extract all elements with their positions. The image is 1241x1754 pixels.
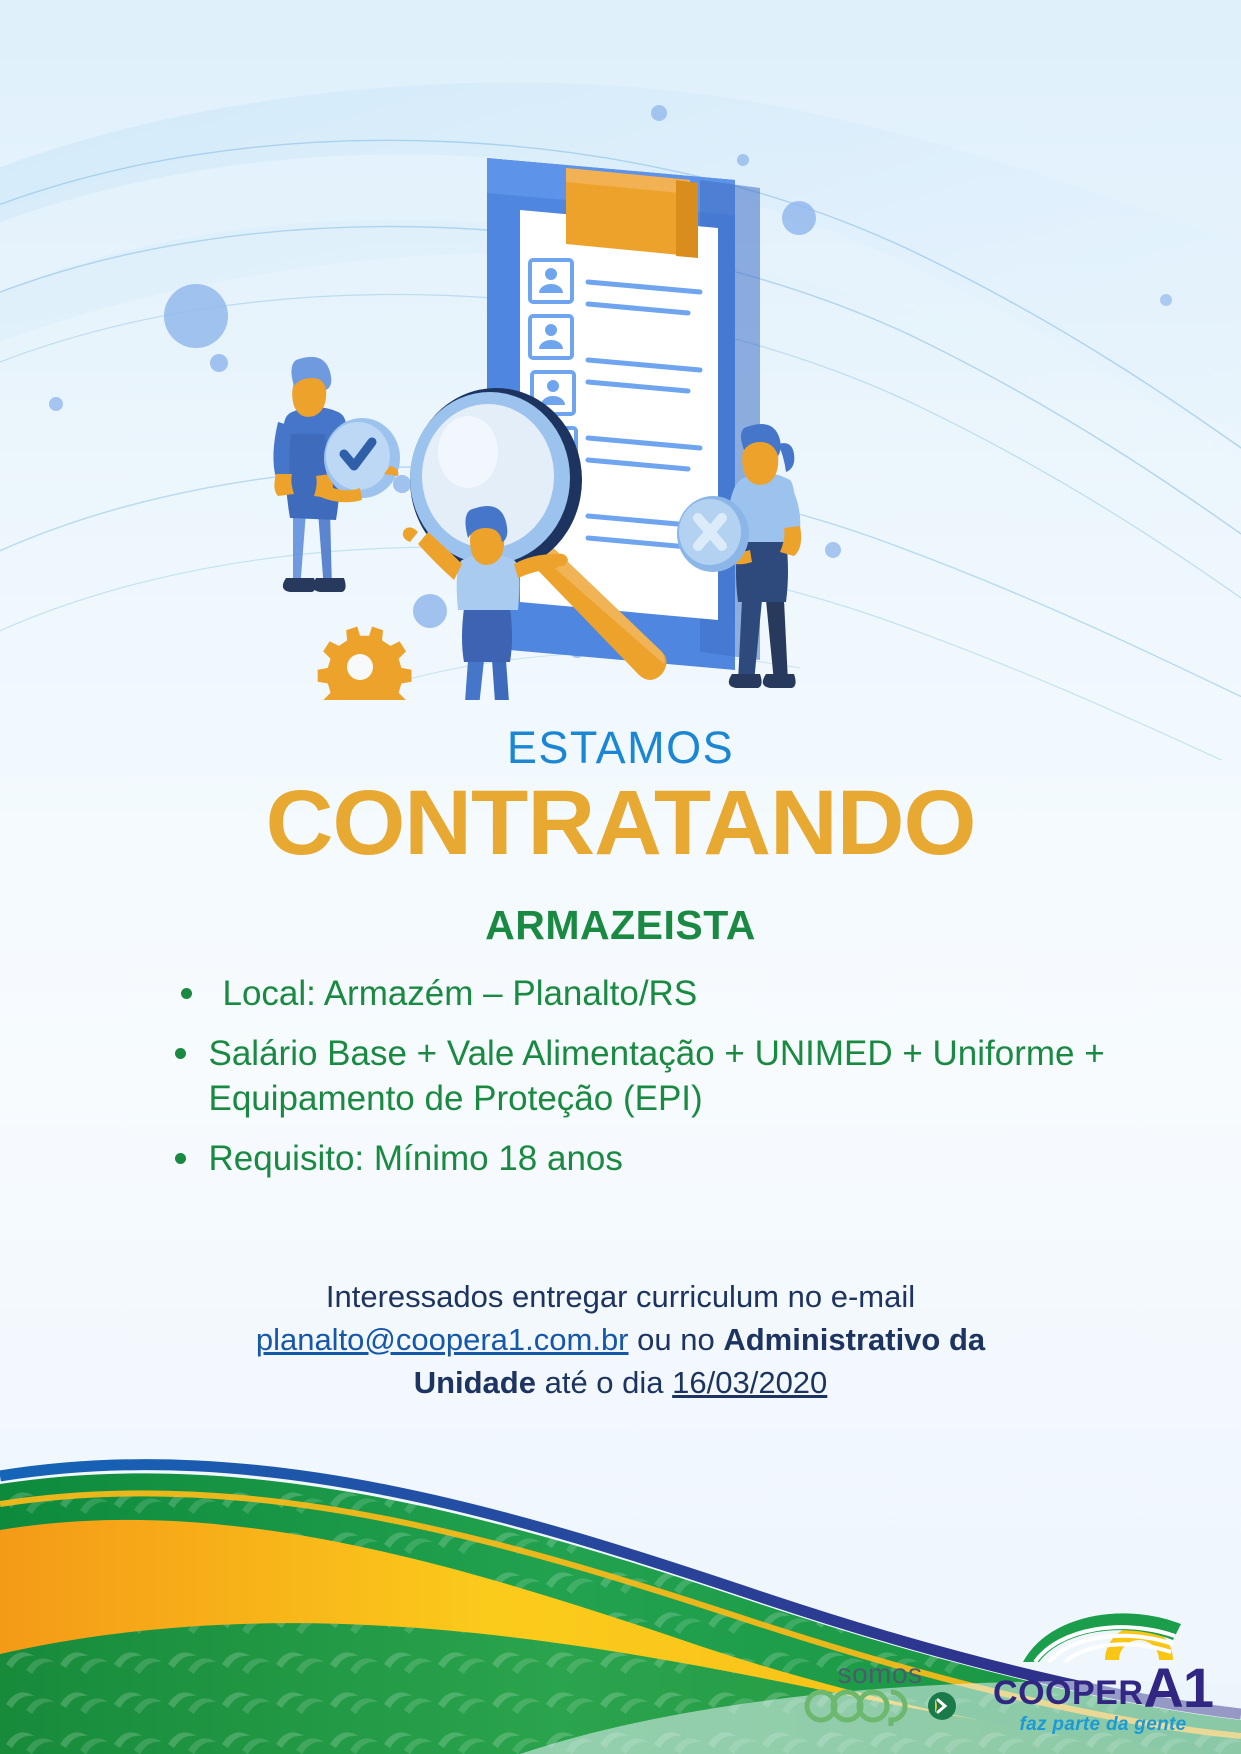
cooper-a1-logo: COOPER A1 faz parte da gente <box>993 1606 1213 1736</box>
headline-kicker: ESTAMOS <box>0 724 1241 771</box>
email-link[interactable]: planalto@coopera1.com.br <box>256 1322 629 1357</box>
headline-block: ESTAMOS CONTRATANDO <box>0 724 1241 872</box>
cooper-a1-wordmark: COOPER A1 <box>993 1664 1213 1712</box>
list-item-label: Requisito: Mínimo 18 anos <box>209 1139 623 1178</box>
coop-wordmark-icon <box>803 1686 921 1726</box>
somos-coop-logo: somos <box>803 1660 957 1736</box>
a1-word: A1 <box>1143 1664 1213 1712</box>
list-item: Requisito: Mínimo 18 anos <box>171 1136 1111 1182</box>
bullet-dot-icon <box>175 1153 186 1164</box>
job-posting-poster: ESTAMOS CONTRATANDO ARMAZEISTA Local: Ar… <box>0 0 1241 1754</box>
recruitment-illustration <box>0 60 1241 700</box>
job-benefits-list: Local: Armazém – Planalto/RS Salário Bas… <box>131 971 1111 1181</box>
logo-group: somos <box>803 1606 1213 1736</box>
page-title: CONTRATANDO <box>0 775 1241 872</box>
list-item: Local: Armazém – Planalto/RS <box>171 971 1111 1017</box>
gear-icon <box>318 627 412 700</box>
contact-intro-line: Interessados entregar curriculum no e-ma… <box>0 1276 1241 1319</box>
cooper-a1-tagline: faz parte da gente <box>1020 1714 1187 1736</box>
coop-mark-icon <box>803 1686 957 1726</box>
somos-coop-word-top: somos <box>838 1660 923 1688</box>
contact-conjunction: ou no <box>629 1322 724 1357</box>
bullet-dot-icon <box>181 988 192 999</box>
coop-dot-icon <box>927 1691 957 1721</box>
list-item: Salário Base + Vale Alimentação + UNIMED… <box>171 1031 1111 1122</box>
job-details-block: ARMAZEISTA Local: Armazém – Planalto/RS … <box>0 902 1241 1195</box>
person-with-checkmark <box>273 357 400 592</box>
contact-department-part1: Administrativo da <box>723 1322 985 1357</box>
bullet-dot-icon <box>175 1048 186 1059</box>
list-item-label: Salário Base + Vale Alimentação + UNIMED… <box>209 1034 1105 1119</box>
cooper-word: COOPER <box>993 1676 1143 1712</box>
job-role-title: ARMAZEISTA <box>0 902 1241 949</box>
list-item-label: Local: Armazém – Planalto/RS <box>223 974 698 1013</box>
